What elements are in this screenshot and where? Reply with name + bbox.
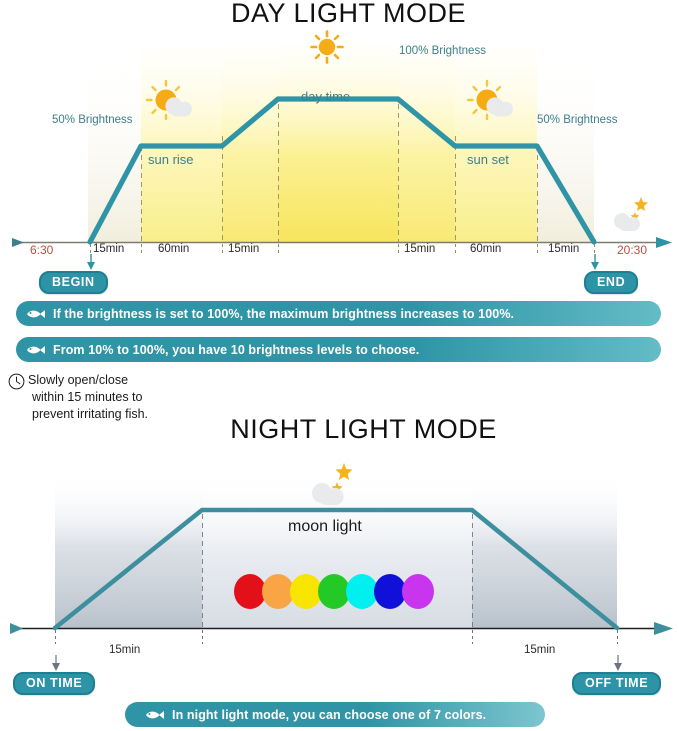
night-mode-title: NIGHT LIGHT MODE xyxy=(24,414,679,445)
info-banner-3: In night light mode, you can choose one … xyxy=(125,702,545,727)
fish-icon xyxy=(145,709,164,721)
night-segment-2: 15min xyxy=(524,644,555,656)
info-banner-3-text: In night light mode, you can choose one … xyxy=(172,708,486,722)
sun-icon xyxy=(310,30,344,69)
day-time-label: day time xyxy=(301,89,350,104)
day-segment-4: 15min xyxy=(404,243,435,255)
info-banner-2: From 10% to 100%, you have 10 brightness… xyxy=(16,337,661,362)
brightness-left-label: 50% Brightness xyxy=(52,114,133,126)
end-time-label: 20:30 xyxy=(617,243,647,257)
end-button[interactable]: END xyxy=(584,271,638,294)
on-time-button[interactable]: ON TIME xyxy=(13,672,95,695)
night-segment-1: 15min xyxy=(109,644,140,656)
begin-arrow-icon xyxy=(84,254,98,272)
moon-stars-cloud-icon xyxy=(305,460,361,517)
sun-rise-label: sun rise xyxy=(148,152,194,167)
day-mode-title: DAY LIGHT MODE xyxy=(9,0,679,29)
day-segment-6: 15min xyxy=(548,243,579,255)
end-arrow-icon xyxy=(588,254,602,272)
note-line-2: within 15 minutes to xyxy=(32,389,148,406)
day-segment-3: 15min xyxy=(228,243,259,255)
info-banner-1: If the brightness is set to 100%, the ma… xyxy=(16,301,661,326)
sun-behind-cloud-icon xyxy=(145,78,195,129)
info-banner-1-text: If the brightness is set to 100%, the ma… xyxy=(53,307,514,321)
on-time-arrow-icon xyxy=(49,655,63,673)
day-segment-2: 60min xyxy=(158,243,189,255)
clock-icon xyxy=(8,373,25,395)
note-line-1: Slowly open/close xyxy=(28,372,148,389)
brightness-top-label: 100% Brightness xyxy=(399,45,486,57)
fish-icon xyxy=(26,344,45,356)
brightness-right-label: 50% Brightness xyxy=(537,114,618,126)
color-swatch-group xyxy=(234,574,430,609)
off-time-arrow-icon xyxy=(611,655,625,673)
moon-stars-cloud-icon xyxy=(608,194,654,241)
sun-behind-cloud-icon xyxy=(466,78,516,129)
color-swatch-magenta[interactable] xyxy=(402,574,434,609)
begin-button[interactable]: BEGIN xyxy=(39,271,108,294)
fish-icon xyxy=(26,308,45,320)
moon-light-label: moon light xyxy=(288,518,362,536)
off-time-button[interactable]: OFF TIME xyxy=(572,672,661,695)
info-banner-2-text: From 10% to 100%, you have 10 brightness… xyxy=(53,343,419,357)
begin-time-label: 6:30 xyxy=(30,243,53,257)
sun-set-label: sun set xyxy=(467,152,509,167)
day-segment-5: 60min xyxy=(470,243,501,255)
